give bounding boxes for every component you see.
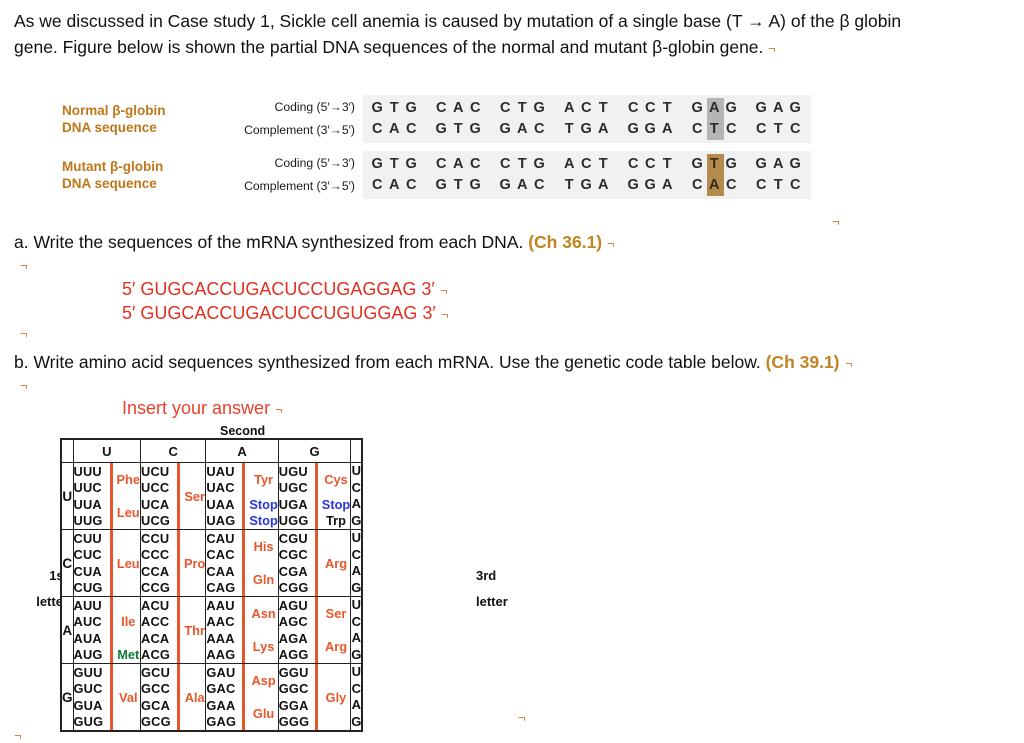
codon-text: ACG (141, 647, 175, 662)
intro-paragraph: As we discussed in Case study 1, Sickle … (14, 8, 1010, 62)
dna-base: C (370, 119, 387, 140)
codon-group-bar (110, 530, 113, 596)
third-letter-label-line1: 3rd (476, 563, 536, 589)
dna-codon: TGA (555, 119, 619, 140)
amino-acid-label: Met (115, 647, 140, 662)
dna-base: T (660, 98, 677, 119)
codon-text: UUA (74, 497, 108, 512)
dna-base-mutation-highlight: A (707, 98, 724, 119)
dna-base: C (579, 154, 596, 175)
dna-base: T (596, 154, 613, 175)
dna-base: T (596, 98, 613, 119)
coding-strand-label: Coding (5′→3′) (207, 96, 355, 119)
amino-acid-label: His (247, 539, 277, 554)
dna-base: C (724, 119, 741, 140)
codon-text: AAA (206, 631, 240, 646)
codon-table-row: GGUUGUCGUAGUGValGCUGCCGCAGCGAlaGAUGACGAA… (61, 664, 362, 732)
dna-base: G (532, 154, 549, 175)
codon-cell: UGUUGCUGAUGGCysStopTrp (278, 463, 350, 530)
codon-text: CAG (206, 580, 240, 595)
dna-complement-row: CACGTGGACTGAGGACACCTC (363, 175, 811, 196)
dna-complement-row: CACGTGGACTGAGGACTCCTC (363, 119, 811, 140)
mrna-answer-normal: 5′ GUGCACCUGACUCCUGAGGAG 3′⌐ (122, 277, 447, 303)
third-letter-cell: UCAG (351, 597, 363, 664)
intro-line-1-text: As we discussed in Case study 1, Sickle … (14, 11, 901, 31)
third-letter-label: 3rd letter (476, 563, 536, 615)
codon-group-bar (110, 664, 113, 730)
dna-base: A (660, 119, 677, 140)
codon-text: AGA (279, 631, 313, 646)
amino-acid-label: Leu (115, 556, 140, 571)
first-letter-cell-a: A (61, 597, 73, 664)
codon-text: GCU (141, 665, 175, 680)
question-a-text: a. Write the sequences of the mRNA synth… (14, 232, 528, 252)
dna-base: G (724, 98, 741, 119)
dna-codon: CTG (491, 98, 555, 119)
dna-codon: GAG (747, 154, 811, 175)
codon-group-bar (177, 664, 180, 730)
codon-group-bar (242, 530, 245, 563)
third-letter-label-line2: letter (476, 589, 536, 615)
dna-codon: GTG (427, 119, 491, 140)
codon-text: UUG (74, 513, 108, 528)
dna-block-title-line1: Mutant β-globin (62, 158, 207, 175)
codon-group-bar (315, 530, 318, 596)
third-letter-c: C (351, 681, 361, 698)
dna-base: A (451, 154, 468, 175)
dna-codon: CTC (747, 119, 811, 140)
coding-strand-label: Coding (5′→3′) (207, 152, 355, 175)
third-letter-g: G (351, 714, 361, 731)
codon-cell: CCUCCCCCACCGPro (141, 530, 206, 597)
third-letter-u: U (351, 664, 361, 681)
dna-base: C (643, 154, 660, 175)
amino-acid-label: Stop (320, 497, 350, 512)
codon-text: AUA (74, 631, 108, 646)
paragraph-mark-icon: ⌐ (845, 352, 853, 376)
codon-cell: GCUGCCGCAGCGAla (141, 664, 206, 732)
amino-acid-label: Asn (247, 606, 277, 621)
amino-acid-label: Trp (320, 513, 350, 528)
third-letter-a: A (351, 697, 361, 714)
dna-base: A (515, 175, 532, 196)
amino-acid-label: Ala (182, 690, 205, 705)
insert-answer-text: Insert your answer (122, 398, 270, 418)
dna-block-title: Mutant β-globinDNA sequence (62, 158, 207, 192)
mrna-answer-mutant: 5′ GUGCACCUGACUCCUGUGGAG 3′⌐ (122, 301, 448, 327)
dna-codon: ACT (555, 154, 619, 175)
dna-base: C (754, 175, 771, 196)
dna-codon: CAC (427, 98, 491, 119)
codon-header-row: UCAG (61, 439, 362, 463)
third-letter-c: C (351, 480, 361, 497)
dna-codon: CCT (619, 98, 683, 119)
dna-base: T (451, 119, 468, 140)
paragraph-mark-icon: ⌐ (20, 378, 28, 393)
codon-text: UGA (279, 497, 313, 512)
dna-base: C (468, 98, 485, 119)
intro-line-2: gene. Figure below is shown the partial … (14, 34, 1010, 62)
dna-base: G (788, 154, 805, 175)
dna-base: T (515, 98, 532, 119)
amino-acid-label: Arg (320, 639, 350, 654)
amino-acid-label: Gly (320, 690, 350, 705)
codon-text: AGU (279, 598, 313, 613)
amino-acid-label: Val (115, 690, 140, 705)
codon-group-bar (177, 463, 180, 529)
codon-group-bar (242, 697, 245, 730)
third-letter-u: U (351, 597, 361, 614)
codon-text: AGG (279, 647, 313, 662)
codon-text: GUA (74, 698, 108, 713)
dna-codon: GTG (363, 98, 427, 119)
dna-base: C (404, 119, 421, 140)
dna-base-mutation-highlight: T (707, 119, 724, 140)
codon-text: CUG (74, 580, 108, 595)
dna-base: G (404, 154, 421, 175)
codon-group-bar (110, 496, 113, 529)
complement-strand-label: Complement (3′→5′) (207, 175, 355, 198)
codon-text: GCG (141, 714, 175, 729)
codon-group-bar (242, 496, 245, 513)
dna-base: G (370, 154, 387, 175)
dna-base: G (754, 98, 771, 119)
codon-cell: CGUCGCCGACGGArg (278, 530, 350, 597)
dna-base: G (404, 98, 421, 119)
amino-acid-label: Lys (247, 639, 277, 654)
dna-base: C (498, 154, 515, 175)
question-b-chapter-ref: (Ch 39.1) (766, 352, 840, 372)
amino-acid-label: Phe (115, 472, 140, 487)
dna-codon: CTG (491, 154, 555, 175)
question-a: a. Write the sequences of the mRNA synth… (14, 230, 615, 256)
dna-base: G (690, 98, 707, 119)
codon-text: CUU (74, 531, 108, 546)
dna-base: A (387, 119, 404, 140)
dna-base-mutation-highlight: A (707, 175, 724, 196)
codon-text: GGA (279, 698, 313, 713)
codon-group-bar (315, 630, 318, 663)
codon-text: ACU (141, 598, 175, 613)
codon-grid-body: UUUUUUCUUAUUGPheLeuUCUUCCUCAUCGSerUAUUAC… (61, 463, 362, 732)
codon-text: UAG (206, 513, 240, 528)
paragraph-mark-icon: ⌐ (20, 258, 28, 273)
dna-base: A (451, 98, 468, 119)
third-letter-u: U (351, 463, 361, 480)
question-b: b. Write amino acid sequences synthesize… (14, 350, 852, 376)
third-letter-a: A (351, 630, 361, 647)
codon-group-bar (315, 463, 318, 496)
dna-base: T (660, 154, 677, 175)
codon-group-bar (315, 664, 318, 730)
codon-text: UGU (279, 464, 313, 479)
codon-text: CCC (141, 547, 175, 562)
second-letter-header-u: U (73, 439, 140, 463)
first-letter-cell-c: C (61, 530, 73, 597)
codon-text: GCC (141, 681, 175, 696)
codon-group-bar (177, 530, 180, 596)
intro-line-2-text: gene. Figure below is shown the partial … (14, 37, 763, 57)
codon-text: AUC (74, 614, 108, 629)
dna-base: C (626, 98, 643, 119)
second-letter-header-c: C (141, 439, 206, 463)
codon-text: CUC (74, 547, 108, 562)
codon-text: CCG (141, 580, 175, 595)
complement-strand-label: Complement (3′→5′) (207, 119, 355, 142)
dna-sequence-box: GTGCACCTGACTCCTGTGGAGCACGTGGACTGAGGACACC… (363, 151, 811, 199)
codon-text: CAU (206, 531, 240, 546)
dna-codon: GTG (683, 154, 747, 175)
codon-text: CAC (206, 547, 240, 562)
codon-text: UCG (141, 513, 175, 528)
dna-base: G (643, 175, 660, 196)
third-letter-g: G (351, 513, 361, 530)
codon-group-bar (315, 513, 318, 530)
codon-text: CGA (279, 564, 313, 579)
codon-text: UAU (206, 464, 240, 479)
codon-cell: AGUAGCAGAAGGSerArg (278, 597, 350, 664)
mrna-answer-mutant-text: 5′ GUGCACCUGACUCCUGUGGAG 3′ (122, 303, 436, 323)
dna-base: G (690, 154, 707, 175)
dna-base: G (626, 175, 643, 196)
codon-cell: CUUCUCCUACUGLeu (73, 530, 140, 597)
codon-text: UCA (141, 497, 175, 512)
dna-strand-labels: Coding (5′→3′)Complement (3′→5′) (207, 96, 363, 142)
codon-text: UUU (74, 464, 108, 479)
dna-codon: GAG (747, 98, 811, 119)
amino-acid-label: Stop (247, 513, 277, 528)
amino-acid-label: Glu (247, 706, 277, 721)
dna-base: G (643, 119, 660, 140)
codon-text: GGC (279, 681, 313, 696)
dna-codon: CAC (363, 119, 427, 140)
codon-text: GUG (74, 714, 108, 729)
question-b-text: b. Write amino acid sequences synthesize… (14, 352, 766, 372)
amino-acid-label: Leu (115, 505, 140, 520)
codon-cell: CAUCACCAACAGHisGln (206, 530, 278, 597)
second-letter-header-a: A (206, 439, 278, 463)
dna-base: T (451, 175, 468, 196)
codon-text: GAG (206, 714, 240, 729)
dna-block-title-line2: DNA sequence (62, 119, 207, 136)
mrna-answer-normal-text: 5′ GUGCACCUGACUCCUGAGGAG 3′ (122, 279, 435, 299)
dna-codon: ACT (555, 98, 619, 119)
dna-base: G (498, 175, 515, 196)
dna-base: C (434, 98, 451, 119)
amino-acid-label: Asp (247, 673, 277, 688)
codon-table-row: CCUUCUCCUACUGLeuCCUCCCCCACCGProCAUCACCAA… (61, 530, 362, 597)
first-letter-cell-g: G (61, 664, 73, 732)
codon-text: UCU (141, 464, 175, 479)
dna-codon: GGA (619, 175, 683, 196)
dna-block-title: Normal β-globinDNA sequence (62, 102, 207, 136)
amino-acid-label: Ile (115, 614, 140, 629)
third-letter-cell: UCAG (351, 664, 363, 732)
dna-codon: CAC (363, 175, 427, 196)
dna-base: T (771, 119, 788, 140)
dna-base: C (690, 175, 707, 196)
dna-base: T (562, 119, 579, 140)
dna-base: C (690, 119, 707, 140)
codon-text: GUC (74, 681, 108, 696)
dna-base: C (754, 119, 771, 140)
dna-base: G (532, 98, 549, 119)
dna-codon: GAC (491, 175, 555, 196)
amino-acid-label: Stop (247, 497, 277, 512)
dna-codon: TGA (555, 175, 619, 196)
dna-base: T (387, 98, 404, 119)
codon-text: CAA (206, 564, 240, 579)
dna-codon: CAC (683, 175, 747, 196)
codon-group-bar (110, 647, 113, 664)
codon-text: AAC (206, 614, 240, 629)
codon-cell: UUUUUCUUAUUGPheLeu (73, 463, 140, 530)
codon-text: UGC (279, 480, 313, 495)
dna-base: C (643, 98, 660, 119)
third-letter-cell: UCAG (351, 463, 363, 530)
insert-answer-placeholder[interactable]: Insert your answer⌐ (122, 398, 283, 419)
dna-base: G (579, 175, 596, 196)
dna-base: G (468, 119, 485, 140)
dna-base: G (498, 119, 515, 140)
dna-base: C (532, 119, 549, 140)
codon-table-row: AAUUAUCAUAAUGIleMetACUACCACAACGThrAAUAAC… (61, 597, 362, 664)
dna-strand-labels: Coding (5′→3′)Complement (3′→5′) (207, 152, 363, 198)
codon-group-bar (177, 597, 180, 663)
codon-group-bar (110, 597, 113, 647)
third-letter-c: C (351, 547, 361, 564)
codon-text: GGG (279, 714, 313, 729)
codon-cell: AUUAUCAUAAUGIleMet (73, 597, 140, 664)
dna-base: A (596, 175, 613, 196)
dna-base: C (468, 154, 485, 175)
dna-base: C (498, 98, 515, 119)
dna-codon: GTG (363, 154, 427, 175)
dna-codon: CCT (619, 154, 683, 175)
paragraph-mark-icon: ⌐ (832, 214, 840, 229)
codon-text: AUU (74, 598, 108, 613)
dna-base: G (370, 98, 387, 119)
codon-text: AAG (206, 647, 240, 662)
codon-text: CCU (141, 531, 175, 546)
dna-sequence-box: GTGCACCTGACTCCTGAGGAGCACGTGGACTGAGGACTCC… (363, 95, 811, 143)
codon-text: UGG (279, 513, 313, 528)
dna-block: Normal β-globinDNA sequenceCoding (5′→3′… (62, 95, 807, 143)
codon-text: CUA (74, 564, 108, 579)
codon-text: CGU (279, 531, 313, 546)
paragraph-mark-icon: ⌐ (440, 279, 448, 303)
codon-text: UCC (141, 480, 175, 495)
codon-cell: UCUUCCUCAUCGSer (141, 463, 206, 530)
third-letter-c: C (351, 614, 361, 631)
third-letter-a: A (351, 563, 361, 580)
codon-cell: ACUACCACAACGThr (141, 597, 206, 664)
codon-grid: UCAG UUUUUUCUUAUUGPheLeuUCUUCCUCAUCGSerU… (60, 438, 363, 732)
paragraph-mark-icon: ⌐ (518, 710, 526, 725)
codon-table-corner-right (351, 439, 363, 463)
codon-group-bar (242, 463, 245, 496)
dna-base: A (562, 154, 579, 175)
codon-group-bar (315, 496, 318, 513)
codon-text: AGC (279, 614, 313, 629)
codon-cell: GGUGGCGGAGGGGly (278, 664, 350, 732)
paragraph-mark-icon: ⌐ (275, 402, 283, 417)
codon-text: GGU (279, 665, 313, 680)
dna-coding-row: GTGCACCTGACTCCTGAGGAG (363, 98, 811, 119)
codon-group-bar (110, 463, 113, 496)
dna-base: C (788, 175, 805, 196)
dna-sequence-figure: Normal β-globinDNA sequenceCoding (5′→3′… (62, 95, 807, 199)
dna-base: C (788, 119, 805, 140)
dna-codon: CTC (683, 119, 747, 140)
dna-base: C (404, 175, 421, 196)
paragraph-mark-icon: ⌐ (768, 36, 776, 62)
dna-base: G (754, 154, 771, 175)
codon-cell: AAUAACAAAAAGAsnLys (206, 597, 278, 664)
dna-codon: CTC (747, 175, 811, 196)
amino-acid-label: Pro (182, 556, 205, 571)
dna-codon: GAG (683, 98, 747, 119)
codon-cell: GAUGACGAAGAGAspGlu (206, 664, 278, 732)
dna-base: C (626, 154, 643, 175)
dna-base: A (660, 175, 677, 196)
codon-group-bar (242, 630, 245, 663)
dna-coding-row: GTGCACCTGACTCCTGTGGAG (363, 154, 811, 175)
dna-codon: GGA (619, 119, 683, 140)
amino-acid-label: Thr (182, 623, 205, 638)
dna-base: A (771, 154, 788, 175)
amino-acid-label: Gln (247, 572, 277, 587)
second-letter-header-g: G (278, 439, 350, 463)
codon-text: GUU (74, 665, 108, 680)
codon-group-bar (242, 563, 245, 596)
codon-text: UAA (206, 497, 240, 512)
codon-text: UUC (74, 480, 108, 495)
dna-block-title-line1: Normal β-globin (62, 102, 207, 119)
dna-base: T (515, 154, 532, 175)
codon-text: CGG (279, 580, 313, 595)
codon-text: CCA (141, 564, 175, 579)
dna-base: G (626, 119, 643, 140)
third-letter-u: U (351, 530, 361, 547)
dna-base: G (468, 175, 485, 196)
dna-codon: GTG (427, 175, 491, 196)
dna-base: G (788, 98, 805, 119)
amino-acid-label: Ser (182, 489, 205, 504)
dna-base: A (771, 98, 788, 119)
dna-base: G (434, 175, 451, 196)
codon-text: ACA (141, 631, 175, 646)
dna-base: A (596, 119, 613, 140)
dna-base: T (562, 175, 579, 196)
codon-group-bar (242, 513, 245, 530)
dna-base: C (370, 175, 387, 196)
dna-base: G (434, 119, 451, 140)
dna-codon: GAC (491, 119, 555, 140)
codon-group-bar (315, 597, 318, 630)
codon-group-bar (242, 664, 245, 697)
dna-base: A (387, 175, 404, 196)
codon-text: GAA (206, 698, 240, 713)
paragraph-mark-icon: ⌐ (20, 326, 28, 341)
dna-codon: CAC (427, 154, 491, 175)
codon-table-row: UUUUUUCUUAUUGPheLeuUCUUCCUCAUCGSerUAUUAC… (61, 463, 362, 530)
codon-cell: GUUGUCGUAGUGVal (73, 664, 140, 732)
dna-block-title-line2: DNA sequence (62, 175, 207, 192)
dna-base: A (562, 98, 579, 119)
dna-base: C (532, 175, 549, 196)
dna-block: Mutant β-globinDNA sequenceCoding (5′→3′… (62, 151, 807, 199)
